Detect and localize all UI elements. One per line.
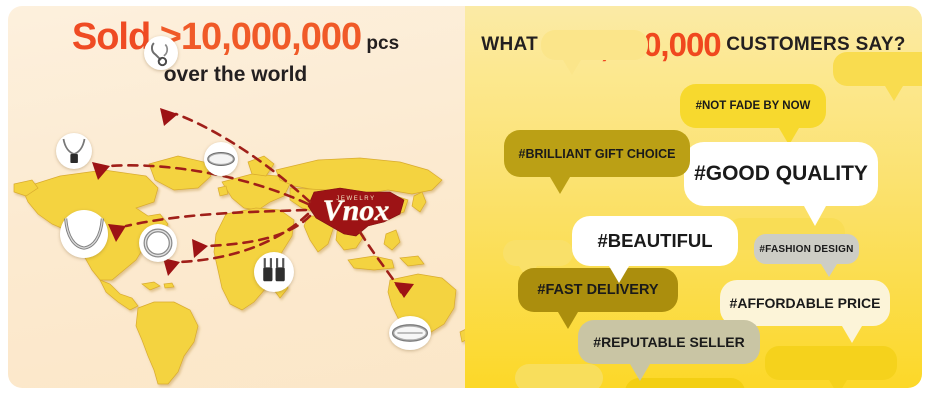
bracelet-badge (204, 142, 238, 176)
bubble-fashion-design[interactable]: #FASHION DESIGN (754, 234, 859, 264)
ring-badge (139, 224, 177, 262)
bubble-good-quality[interactable]: #GOOD QUALITY (684, 142, 878, 206)
promo-banner: Sold >10,000,000 pcs over the world (0, 0, 930, 400)
right-panel-customer-reviews: WHAT DID 1,000,000 CUSTOMERS SAY? #NOT F… (465, 6, 922, 388)
headline-subtitle: over the world (8, 64, 463, 86)
bracelet-icon (204, 142, 238, 176)
bubble-beautiful[interactable]: #BEAUTIFUL (572, 216, 738, 266)
bubble-not-fade-by-now[interactable]: #NOT FADE BY NOW (680, 84, 826, 128)
bubble-tail (609, 266, 629, 283)
chain-necklace-icon (60, 210, 108, 258)
left-headline: Sold >10,000,000 pcs over the world (8, 18, 463, 86)
bubble-label: #REPUTABLE SELLER (578, 334, 760, 350)
necklace-badge (60, 210, 108, 258)
headline-unit: pcs (361, 33, 399, 54)
engraved-ring-icon (389, 316, 431, 350)
bubble-label: #NOT FADE BY NOW (680, 100, 826, 112)
svg-text:JEWELRY: JEWELRY (336, 196, 375, 202)
band-badge (389, 316, 431, 350)
bubble-label: #FAST DELIVERY (518, 282, 678, 298)
bubble-tail (842, 326, 862, 343)
pendant-badge (56, 133, 92, 169)
earrings-icon (144, 36, 178, 70)
cufflinks-badge (254, 252, 294, 292)
ghost-bubble-3 (503, 240, 573, 266)
bubble-brilliant-gift-choice[interactable]: #BRILLIANT GIFT CHOICE (504, 130, 690, 177)
headline-amount: >10,000,000 (160, 16, 361, 58)
earrings-badge (144, 36, 178, 70)
bubble-label: #GOOD QUALITY (684, 162, 878, 186)
bubble-tail (821, 264, 837, 277)
ghost-bubble-6 (765, 346, 897, 380)
bubble-tail (558, 312, 578, 329)
world-map: Vnox JEWELRY (8, 84, 473, 388)
bubble-label: #AFFORDABLE PRICE (720, 295, 890, 311)
ghost-bubble-1 (541, 30, 648, 60)
cufflinks-icon (254, 252, 294, 292)
ghost-bubble-2 (833, 52, 922, 86)
bubble-reputable-seller[interactable]: #REPUTABLE SELLER (578, 320, 760, 364)
bubble-tail (804, 206, 826, 226)
bubble-fast-delivery[interactable]: #FAST DELIVERY (518, 268, 678, 312)
ring-icon (139, 224, 177, 262)
ghost-bubble-5 (515, 364, 603, 388)
bubble-tail (550, 177, 570, 194)
bubble-label: #BRILLIANT GIFT CHOICE (504, 147, 690, 161)
bubble-label: #BEAUTIFUL (572, 230, 738, 252)
bubble-label: #FASHION DESIGN (754, 244, 859, 255)
vnox-logo: Vnox JEWELRY (323, 194, 390, 227)
pendant-necklace-icon (56, 133, 92, 169)
bubble-tail (630, 364, 650, 381)
